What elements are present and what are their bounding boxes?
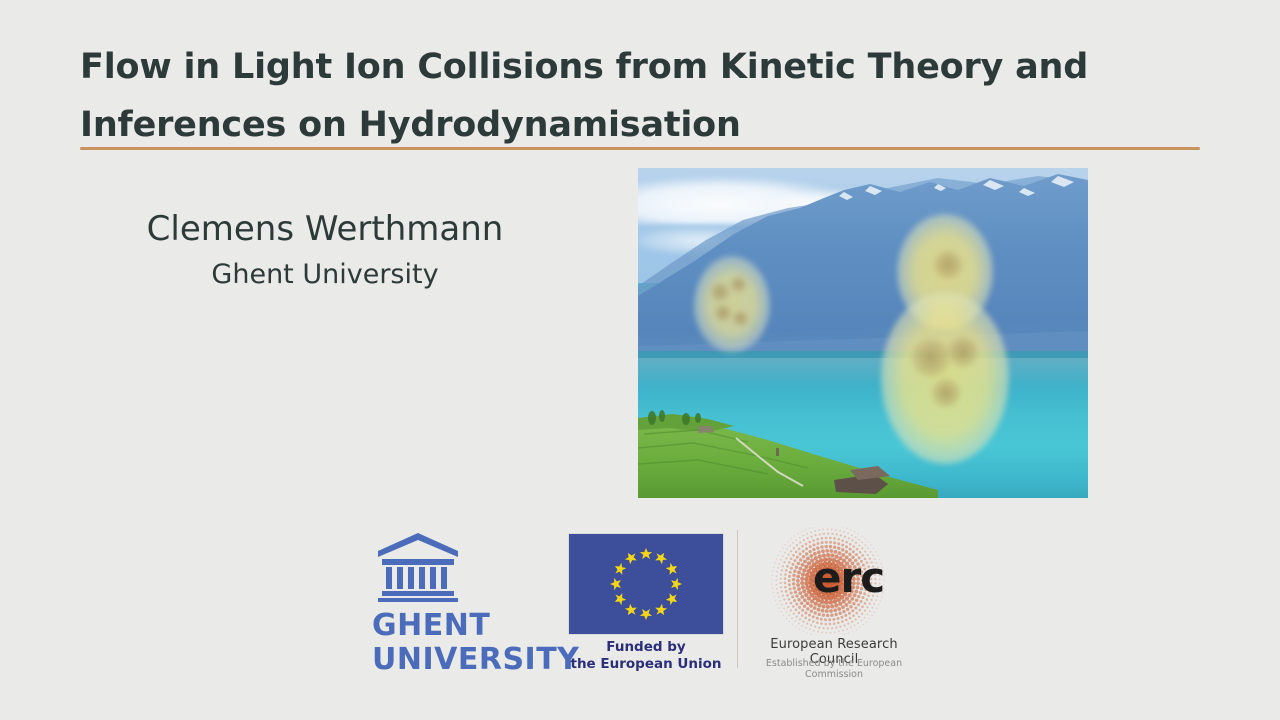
eu-flag-icon <box>568 533 724 635</box>
author-name: Clemens Werthmann <box>60 205 590 253</box>
oxygen-nucleus-density-blob <box>881 214 1009 464</box>
logo-divider <box>737 530 738 668</box>
nucleon-peak <box>732 310 749 327</box>
alpha-nucleus-density-blob <box>694 256 770 352</box>
erc-subtitle: Established by the European Commission <box>749 658 919 680</box>
page-title: Flow in Light Ion Collisions from Kineti… <box>80 38 1200 154</box>
title-block: Flow in Light Ion Collisions from Kineti… <box>80 38 1200 154</box>
nucleon-peak <box>931 378 961 408</box>
ghent-wordmark-line2: UNIVERSITY <box>372 643 537 677</box>
eu-caption: Funded by the European Union <box>564 639 728 673</box>
author-affiliation: Ghent University <box>60 253 590 297</box>
author-block: Clemens Werthmann Ghent University <box>60 205 590 297</box>
nucleon-peak <box>911 338 951 378</box>
density-halo <box>694 256 770 352</box>
nucleon-peak <box>933 250 963 280</box>
ghent-university-logo: GHENT UNIVERSITY <box>372 531 537 681</box>
title-figure-image <box>638 168 1088 498</box>
sponsor-logo-row: GHENT UNIVERSITY <box>0 525 1280 685</box>
nucleon-peak <box>730 276 747 293</box>
nucleon-peak <box>714 304 732 322</box>
european-union-logo: Funded by the European Union <box>568 533 724 681</box>
water-shimmer <box>638 358 1088 386</box>
classical-building-icon <box>376 531 460 603</box>
ghent-wordmark: GHENT UNIVERSITY <box>372 609 537 677</box>
erc-logo: erc European Research Council Establishe… <box>749 527 919 685</box>
title-underline-rule <box>80 147 1200 150</box>
erc-wordmark: erc <box>813 557 884 599</box>
nucleon-peak <box>947 336 979 368</box>
ghent-wordmark-line1: GHENT <box>372 609 537 643</box>
eu-stars <box>569 534 723 634</box>
slide-root: Flow in Light Ion Collisions from Kineti… <box>0 0 1280 720</box>
nucleon-peak <box>710 282 730 302</box>
